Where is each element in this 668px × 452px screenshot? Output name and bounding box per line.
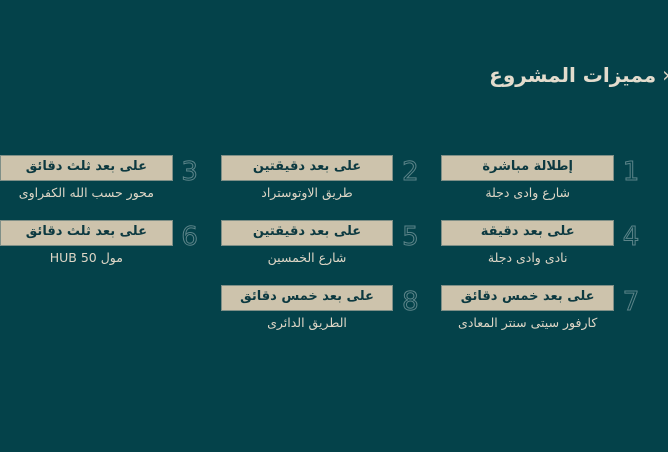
feature-subtitle: الطريق الدائرى	[221, 314, 394, 332]
feature-body: على بعد ثلث دقائق مول HUB 50	[0, 220, 173, 267]
feature-body: على بعد خمس دقائق كارفور سيتى سنتر المعا…	[441, 285, 614, 332]
feature-badge: على بعد ثلث دقائق	[0, 155, 173, 181]
feature-number: 6	[177, 220, 203, 254]
feature-badge: على بعد خمس دقائق	[221, 285, 394, 311]
feature-row: 7 على بعد خمس دقائق كارفور سيتى سنتر الم…	[0, 285, 668, 332]
feature-body: إطلالة مباشرة شارع وادى دجلة	[441, 155, 614, 202]
feature-subtitle: مول HUB 50	[0, 249, 173, 267]
feature-item-1[interactable]: 1 إطلالة مباشرة شارع وادى دجلة	[441, 155, 662, 202]
chevron-left-icon: «	[662, 65, 668, 86]
feature-badge: على بعد دقيقتين	[221, 155, 394, 181]
feature-badge: على بعد دقيقة	[441, 220, 614, 246]
feature-number: 1	[618, 155, 644, 189]
page-title: « مميزات المشروع	[0, 58, 668, 92]
feature-body: على بعد خمس دقائق الطريق الدائرى	[221, 285, 394, 332]
features-grid: 1 إطلالة مباشرة شارع وادى دجلة 2 على بعد…	[0, 155, 668, 332]
feature-badge: على بعد خمس دقائق	[441, 285, 614, 311]
feature-number: 7	[618, 285, 644, 319]
feature-number: 2	[397, 155, 423, 189]
feature-badge: على بعد دقيقتين	[221, 220, 394, 246]
feature-body: على بعد دقيقتين طريق الاوتوستراد	[221, 155, 394, 202]
feature-subtitle: نادى وادى دجلة	[441, 249, 614, 267]
feature-item-6[interactable]: 6 على بعد ثلث دقائق مول HUB 50	[0, 220, 221, 267]
feature-number: 5	[397, 220, 423, 254]
page-title-label: مميزات المشروع	[489, 63, 656, 87]
feature-number: 3	[177, 155, 203, 189]
feature-item-4[interactable]: 4 على بعد دقيقة نادى وادى دجلة	[441, 220, 662, 267]
feature-row: 1 إطلالة مباشرة شارع وادى دجلة 2 على بعد…	[0, 155, 668, 202]
feature-row: 4 على بعد دقيقة نادى وادى دجلة 5 على بعد…	[0, 220, 668, 267]
feature-item-3[interactable]: 3 على بعد ثلث دقائق محور حسب الله الكفرا…	[0, 155, 221, 202]
feature-number: 4	[618, 220, 644, 254]
feature-badge: على بعد ثلث دقائق	[0, 220, 173, 246]
feature-item-5[interactable]: 5 على بعد دقيقتين شارع الخمسين	[221, 220, 442, 267]
feature-body: على بعد ثلث دقائق محور حسب الله الكفراوى	[0, 155, 173, 202]
feature-body: على بعد دقيقتين شارع الخمسين	[221, 220, 394, 267]
feature-item-8[interactable]: 8 على بعد خمس دقائق الطريق الدائرى	[221, 285, 442, 332]
feature-item-7[interactable]: 7 على بعد خمس دقائق كارفور سيتى سنتر الم…	[441, 285, 662, 332]
feature-subtitle: شارع وادى دجلة	[441, 184, 614, 202]
feature-number: 8	[397, 285, 423, 319]
slide-canvas: « مميزات المشروع 1 إطلالة مباشرة شارع وا…	[0, 0, 668, 452]
feature-subtitle: محور حسب الله الكفراوى	[0, 184, 173, 202]
feature-subtitle: شارع الخمسين	[221, 249, 394, 267]
feature-item-2[interactable]: 2 على بعد دقيقتين طريق الاوتوستراد	[221, 155, 442, 202]
feature-body: على بعد دقيقة نادى وادى دجلة	[441, 220, 614, 267]
feature-subtitle: طريق الاوتوستراد	[221, 184, 394, 202]
feature-subtitle: كارفور سيتى سنتر المعادى	[441, 314, 614, 332]
feature-badge: إطلالة مباشرة	[441, 155, 614, 181]
